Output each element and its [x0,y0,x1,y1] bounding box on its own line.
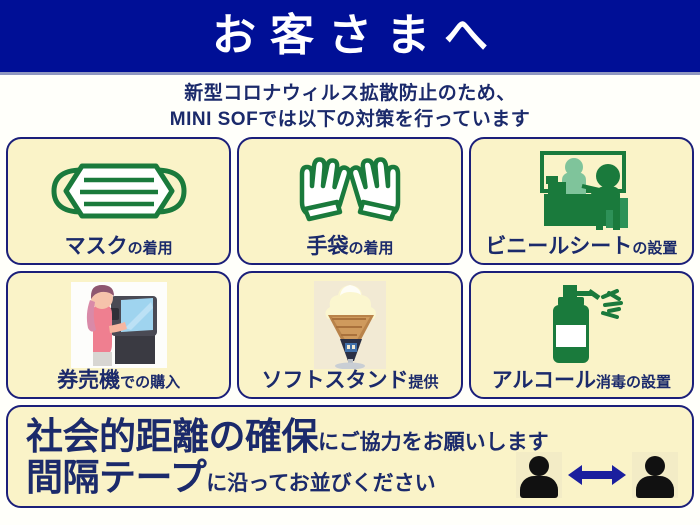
card-label-sub: での購入 [120,375,180,390]
subtitle-line-2: MINI SOFでは以下の対策を行っています [0,107,700,133]
card-label-sub: 消毒の設置 [596,375,671,390]
banner-line-2-sub: に沿ってお並びください [206,472,435,496]
vinyl-sheet-icon [522,150,640,232]
subtitle-line-1: 新型コロナウィルス拡散防止のため、 [0,81,700,107]
card-label-gloves: 手袋 の着用 [306,236,393,259]
card-alcohol-sanitizer: アルコール 消毒の設置 [469,271,694,399]
card-label-main: マスク [65,236,128,257]
soft-serve-icon [314,281,386,369]
person-body [636,476,674,498]
social-distance-banner: 社会的距離の確保 にご協力をお願いします 間隔テープ に沿ってお並びください [6,405,694,508]
person-head [645,456,665,476]
card-label-main: 券売機 [57,370,120,391]
page-title: お客さまへ [198,14,502,58]
card-label-sub: の着用 [348,241,393,256]
poster: お客さまへ 新型コロナウィルス拡散防止のため、 MINI SOFでは以下の対策を… [0,0,700,525]
card-ticket-machine: 券売機 での購入 [6,271,231,399]
person-body [520,476,558,498]
icon-wrap [12,279,225,370]
card-vinyl-sheet: ビニールシート の設置 [469,137,694,265]
surgical-mask-icon [44,154,194,228]
banner-line-1-main: 社会的距離の確保 [26,416,318,457]
icon-wrap [475,279,688,370]
icon-wrap [475,145,688,236]
sanitizer-pump-icon [525,283,637,367]
card-gloves: 手袋 の着用 [237,137,462,265]
card-label-main: アルコール [492,370,596,391]
gloves-icon [288,152,412,230]
measures-grid: マスク の着用 手袋 の着用 [0,137,700,399]
double-arrow-icon [566,461,628,489]
icon-wrap [243,145,456,236]
distance-pictogram [516,452,678,498]
card-label-vinyl-sheet: ビニールシート の設置 [485,236,677,259]
poster-header: お客さまへ [0,0,700,75]
card-label-ticket-machine: 券売機 での購入 [57,370,180,393]
icon-wrap [243,279,456,370]
card-label-mask: マスク の着用 [65,236,173,259]
icon-wrap [12,145,225,236]
banner-line-1: 社会的距離の確保 にご協力をお願いします [26,416,682,457]
card-label-main: ソフトスタンド [261,370,408,391]
card-mask: マスク の着用 [6,137,231,265]
person-head [529,456,549,476]
card-label-alcohol-sanitizer: アルコール 消毒の設置 [492,370,671,393]
banner-line-2-main: 間隔テープ [26,457,206,498]
card-label-main: ビニールシート [485,236,632,257]
card-label-soft-serve: ソフトスタンド 提供 [261,370,438,393]
banner-line-1-sub: にご協力をお願いします [318,431,549,455]
card-label-sub: の着用 [128,241,173,256]
person-left-icon [516,452,562,498]
ticket-machine-icon [71,282,167,368]
card-label-main: 手袋 [306,236,348,257]
subtitle-block: 新型コロナウィルス拡散防止のため、 MINI SOFでは以下の対策を行っています [0,75,700,137]
card-label-sub: 提供 [408,375,438,390]
person-right-icon [632,452,678,498]
card-soft-serve: ソフトスタンド 提供 [237,271,462,399]
card-label-sub: の設置 [632,241,677,256]
